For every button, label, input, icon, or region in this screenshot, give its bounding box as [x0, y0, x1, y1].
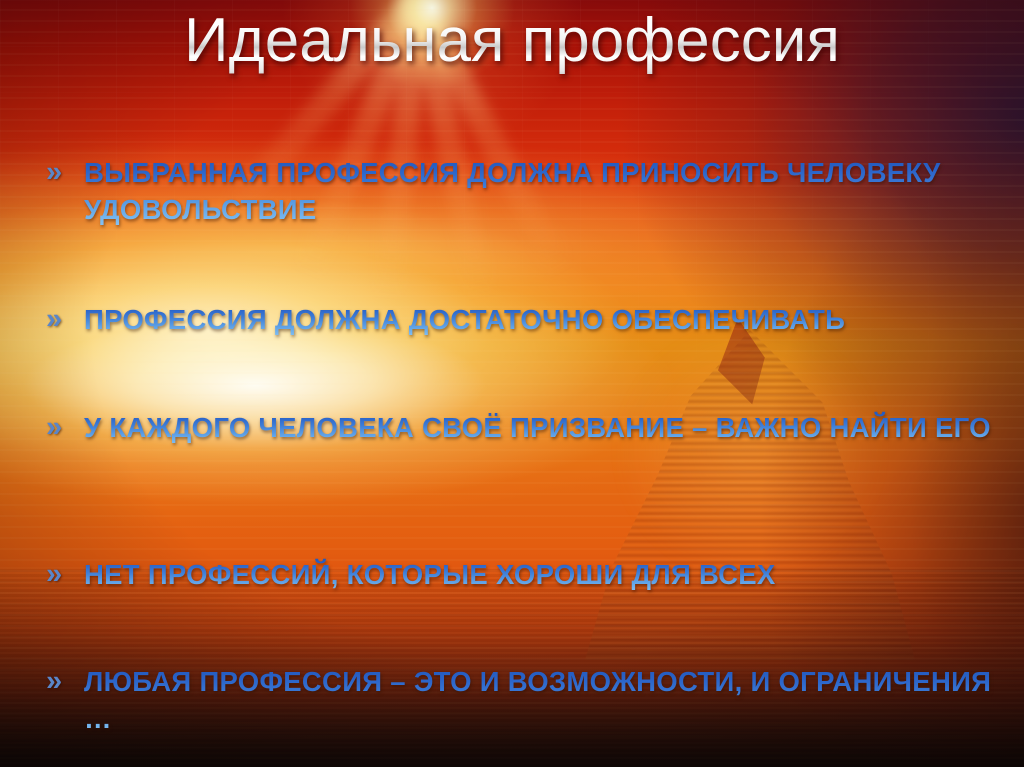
chevron-double-right-icon: » — [46, 663, 84, 699]
list-item-text: НЕТ ПРОФЕССИЙ, КОТОРЫЕ ХОРОШИ ДЛЯ ВСЕХ — [84, 556, 1006, 593]
list-item-text: ЛЮБАЯ ПРОФЕССИЯ – ЭТО И ВОЗМОЖНОСТИ, И О… — [84, 663, 1006, 737]
chevron-double-right-icon: » — [46, 301, 84, 337]
watermark-signature: 𝓉𝒼𝓇𝒾𝓁 — [900, 711, 996, 745]
chevron-double-right-icon: » — [46, 556, 84, 592]
list-item-text: У КАЖДОГО ЧЕЛОВЕКА СВОЁ ПРИЗВАНИЕ – ВАЖН… — [84, 409, 1006, 446]
presentation-slide: Идеальная профессия » ВЫБРАННАЯ ПРОФЕССИ… — [0, 0, 1024, 767]
list-item[interactable]: » НЕТ ПРОФЕССИЙ, КОТОРЫЕ ХОРОШИ ДЛЯ ВСЕХ — [46, 556, 1006, 593]
list-item[interactable]: » У КАЖДОГО ЧЕЛОВЕКА СВОЁ ПРИЗВАНИЕ – ВА… — [46, 409, 1006, 446]
list-item[interactable]: » ПРОФЕССИЯ ДОЛЖНА ДОСТАТОЧНО ОБЕСПЕЧИВА… — [46, 301, 1006, 338]
chevron-double-right-icon: » — [46, 409, 84, 445]
chevron-double-right-icon: » — [46, 154, 84, 190]
list-item[interactable]: » ВЫБРАННАЯ ПРОФЕССИЯ ДОЛЖНА ПРИНОСИТЬ Ч… — [46, 154, 1006, 228]
list-item-text: ПРОФЕССИЯ ДОЛЖНА ДОСТАТОЧНО ОБЕСПЕЧИВАТЬ — [84, 301, 1006, 338]
list-item-text: ВЫБРАННАЯ ПРОФЕССИЯ ДОЛЖНА ПРИНОСИТЬ ЧЕЛ… — [84, 154, 1006, 228]
bullet-list: » ВЫБРАННАЯ ПРОФЕССИЯ ДОЛЖНА ПРИНОСИТЬ Ч… — [0, 0, 1024, 767]
list-item[interactable]: » ЛЮБАЯ ПРОФЕССИЯ – ЭТО И ВОЗМОЖНОСТИ, И… — [46, 663, 1006, 737]
